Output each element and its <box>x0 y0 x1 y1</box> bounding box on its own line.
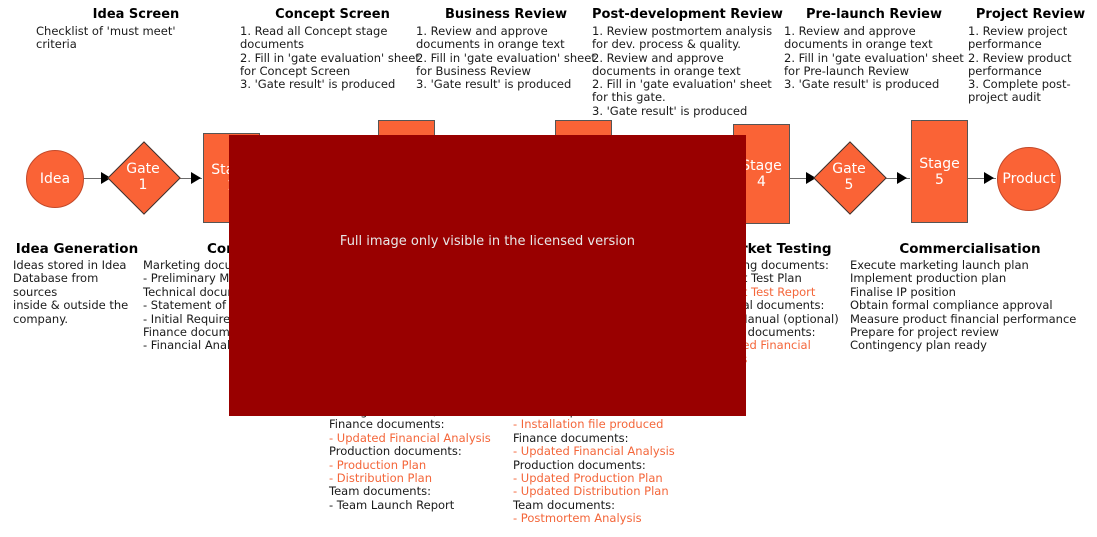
text-line: 1. Review project <box>968 25 1093 38</box>
text-line: Checklist of 'must meet' <box>36 25 236 38</box>
text-line: for Business Review <box>416 65 596 78</box>
text-line: Database from sources <box>13 272 141 299</box>
connector-arrow <box>191 172 201 184</box>
text-line: Finance documents: <box>329 418 514 431</box>
license-overlay: Full image only visible in the licensed … <box>229 135 746 416</box>
stage-detail-body: Management Plan)Finance documents:- Upda… <box>329 405 514 512</box>
text-line: Team documents: <box>329 485 514 498</box>
flow-gate-1[interactable]: Gate1 <box>109 143 177 211</box>
gate-description-business-review: Business Review 1. Review and approvedoc… <box>416 7 596 91</box>
text-line: Prepare for project review <box>850 326 1090 339</box>
text-line: Execute marketing launch plan <box>850 259 1090 272</box>
connector-arrow <box>984 172 994 184</box>
flow-stage-label: Stage5 <box>919 156 959 188</box>
connector-arrow <box>897 172 907 184</box>
text-line: Obtain formal compliance approval <box>850 299 1090 312</box>
text-line: inside & outside the <box>13 299 141 312</box>
license-overlay-text: Full image only visible in the licensed … <box>340 234 635 249</box>
flow-stage-5[interactable]: Stage5 <box>911 120 968 223</box>
stage-detail-development: Management Plan)Finance documents:- Upda… <box>329 405 514 512</box>
text-line: 3. 'Gate result' is produced <box>592 105 777 118</box>
text-line: criteria <box>36 38 236 51</box>
stage-title: Commercialisation <box>850 241 1090 257</box>
gate-body: 1. Review projectperformance2. Review pr… <box>968 25 1093 105</box>
text-line: company. <box>13 313 141 326</box>
deliverable-highlighted: - Distribution Plan <box>329 472 514 485</box>
diamond-shape <box>107 141 181 215</box>
flow-gate-5[interactable]: Gate5 <box>815 143 883 211</box>
stage-description-idea-generation: Idea Generation Ideas stored in IdeaData… <box>13 241 141 326</box>
text-line: 2. Fill in 'gate evaluation' sheet <box>416 52 596 65</box>
text-line: - Team Launch Report <box>329 499 514 512</box>
text-line: 1. Read all Concept stage <box>240 25 425 38</box>
text-line: documents <box>240 38 425 51</box>
text-line: Contingency plan ready <box>850 339 1090 352</box>
gate-title: Post-development Review <box>592 7 777 22</box>
flow-node-label: Idea <box>40 172 70 187</box>
gate-title: Project Review <box>968 7 1093 22</box>
text-line: for Concept Screen <box>240 65 425 78</box>
text-line: 1. Review and approve <box>784 25 964 38</box>
text-line: Team documents: <box>513 499 713 512</box>
flow-node-label: Product <box>1002 172 1055 187</box>
text-line: documents in orange text <box>592 65 777 78</box>
gate-title: Idea Screen <box>36 7 236 22</box>
gate-body: 1. Review and approvedocuments in orange… <box>784 25 964 91</box>
text-line: performance <box>968 65 1093 78</box>
text-line: 3. 'Gate result' is produced <box>416 78 596 91</box>
gate-description-post-development-review: Post-development Review 1. Review postmo… <box>592 7 777 118</box>
text-line: documents in orange text <box>784 38 964 51</box>
text-line: 3. 'Gate result' is produced <box>240 78 425 91</box>
text-line: project audit <box>968 91 1093 104</box>
diamond-shape <box>813 141 887 215</box>
stage-detail-testing: - User Help files- Installation file pro… <box>513 405 713 526</box>
text-line: 1. Review postmortem analysis <box>592 25 777 38</box>
text-line: 2. Fill in 'gate evaluation' sheet <box>592 78 777 91</box>
deliverable-highlighted: - Updated Financial Analysis <box>513 445 713 458</box>
text-line: Production documents: <box>329 445 514 458</box>
stage-title: Idea Generation <box>13 241 141 257</box>
flow-stage-label: Stage4 <box>741 158 781 190</box>
flow-node-product[interactable]: Product <box>997 147 1061 211</box>
text-line: documents in orange text <box>416 38 596 51</box>
text-line: 3. Complete post- <box>968 78 1093 91</box>
gate-body: 1. Review and approvedocuments in orange… <box>416 25 596 91</box>
gate-description-idea-screen: Idea Screen Checklist of 'must meet'crit… <box>36 7 236 52</box>
text-line: for Pre-launch Review <box>784 65 964 78</box>
text-line: 1. Review and approve <box>416 25 596 38</box>
stage-detail-body: - User Help files- Installation file pro… <box>513 405 713 526</box>
text-line: Implement production plan <box>850 272 1090 285</box>
stage-description-commercialisation: Commercialisation Execute marketing laun… <box>850 241 1090 353</box>
text-line: Finance documents: <box>513 432 713 445</box>
stage-body: Ideas stored in IdeaDatabase from source… <box>13 259 141 326</box>
gate-description-pre-launch-review: Pre-launch Review 1. Review and approved… <box>784 7 964 91</box>
gate-title: Concept Screen <box>240 7 425 22</box>
text-line: 2. Review and approve <box>592 52 777 65</box>
deliverable-highlighted: - Updated Financial Analysis <box>329 432 514 445</box>
text-line: for this gate. <box>592 91 777 104</box>
text-line: performance <box>968 38 1093 51</box>
gate-title: Pre-launch Review <box>784 7 964 22</box>
text-line: 3. 'Gate result' is produced <box>784 78 964 91</box>
stage-body: Execute marketing launch planImplement p… <box>850 259 1090 353</box>
gate-title: Business Review <box>416 7 596 22</box>
deliverable-highlighted: - Installation file produced <box>513 418 713 431</box>
text-line: Finalise IP position <box>850 286 1090 299</box>
text-line: 2. Review product <box>968 52 1093 65</box>
gate-description-concept-screen: Concept Screen 1. Read all Concept stage… <box>240 7 425 91</box>
gate-body: Checklist of 'must meet'criteria <box>36 25 236 52</box>
deliverable-highlighted: - Updated Distribution Plan <box>513 485 713 498</box>
text-line: Ideas stored in Idea <box>13 259 141 272</box>
deliverable-highlighted: - Updated Production Plan <box>513 472 713 485</box>
text-line: Measure product financial performance <box>850 313 1090 326</box>
deliverable-highlighted: - Postmortem Analysis <box>513 512 713 525</box>
flow-node-idea[interactable]: Idea <box>26 150 84 208</box>
gate-description-project-review: Project Review 1. Review projectperforma… <box>968 7 1093 105</box>
gate-body: 1. Read all Concept stagedocuments2. Fil… <box>240 25 425 91</box>
gate-body: 1. Review postmortem analysisfor dev. pr… <box>592 25 777 118</box>
text-line: for dev. process & quality. <box>592 38 777 51</box>
deliverable-highlighted: - Production Plan <box>329 459 514 472</box>
text-line: 2. Fill in 'gate evaluation' sheet <box>784 52 964 65</box>
text-line: 2. Fill in 'gate evaluation' sheet <box>240 52 425 65</box>
text-line: Production documents: <box>513 459 713 472</box>
